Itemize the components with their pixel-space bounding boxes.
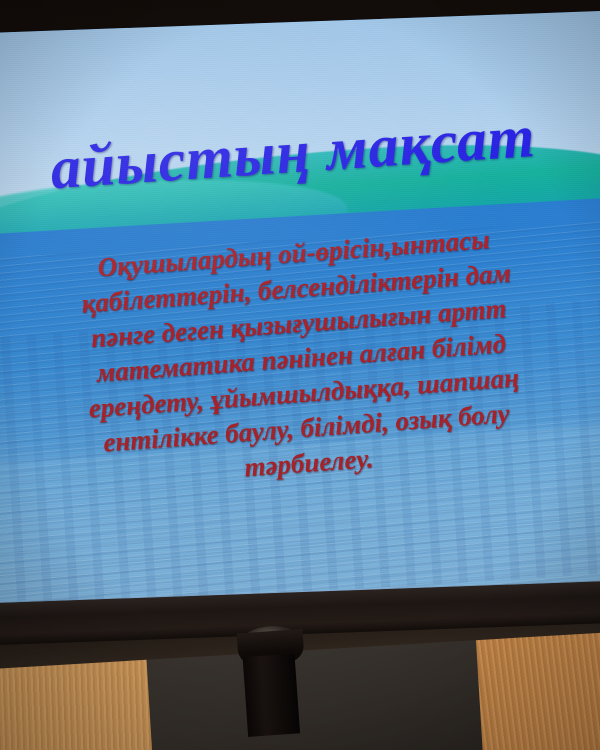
slide-body-text: Оқушылардың ой-өрісін,ынтасы қабілеттері… — [0, 208, 600, 509]
monitor-screen: айыстың мақсат Оқушылардың ой-өрісін,ынт… — [0, 10, 600, 603]
lg-monitor: айыстың мақсат Оқушылардың ой-өрісін,ынт… — [0, 0, 600, 654]
presentation-slide: айыстың мақсат Оқушылардың ой-өрісін,ынт… — [0, 10, 600, 603]
photo-scene: айыстың мақсат Оқушылардың ой-өрісін,ынт… — [0, 0, 600, 750]
monitor-stand-column — [243, 653, 301, 736]
